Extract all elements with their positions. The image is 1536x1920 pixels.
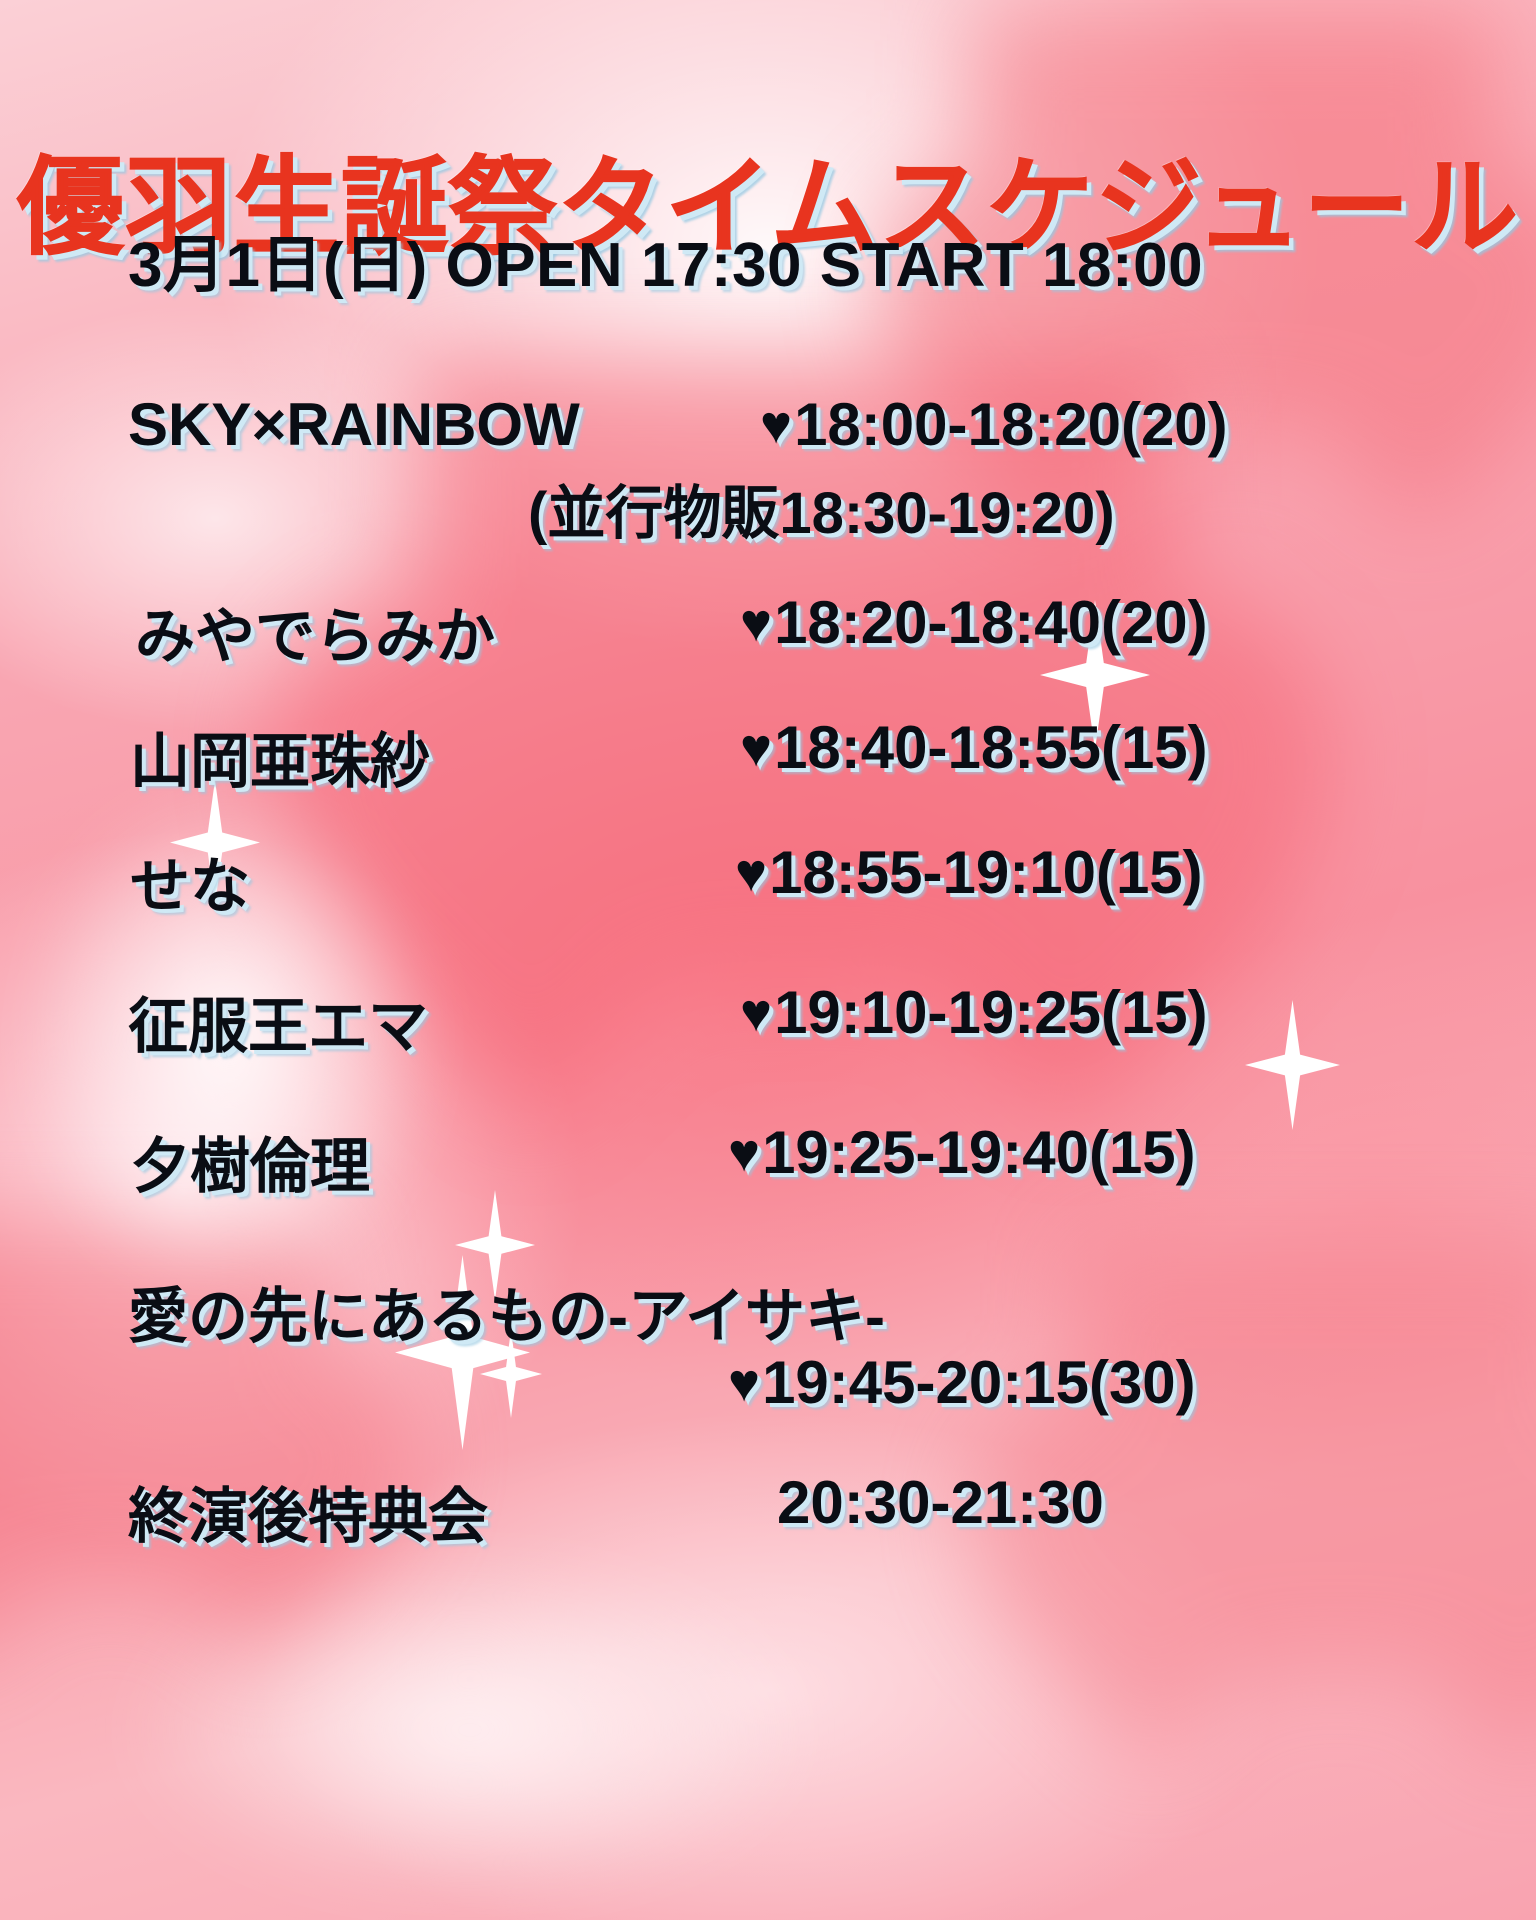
schedule-row: 征服王エマ ♥ 19:10-19:25(15) xyxy=(0,978,1536,1118)
performance-time: ♥ 18:55-19:10(15) xyxy=(735,838,1203,907)
heart-icon: ♥ xyxy=(728,1356,760,1410)
time-text: 19:10-19:25(15) xyxy=(774,978,1208,1047)
time-text: 18:40-18:55(15) xyxy=(774,713,1208,782)
performer-name: 山岡亜珠紗 xyxy=(130,713,430,800)
heart-icon: ♥ xyxy=(740,986,772,1040)
performance-time: ♥ 19:45-20:15(30) xyxy=(728,1348,1196,1417)
heart-icon: ♥ xyxy=(760,398,792,452)
event-time: 20:30-21:30 xyxy=(775,1468,1104,1537)
time-text: 18:20-18:40(20) xyxy=(774,588,1208,657)
schedule-list: SKY×RAINBOW ♥ 18:00-18:20(20) (並行物販18:30… xyxy=(0,390,1536,1598)
performance-time: ♥ 19:25-19:40(15) xyxy=(728,1118,1196,1187)
heart-icon: ♥ xyxy=(735,846,767,900)
performer-name: 征服王エマ xyxy=(128,978,428,1065)
poster-canvas: 優羽生誕祭タイムスケジュール 3月1日(日) OPEN 17:30 START … xyxy=(0,0,1536,1920)
performance-time: ♥ 18:00-18:20(20) xyxy=(760,390,1228,459)
time-text: 19:45-20:15(30) xyxy=(762,1348,1196,1417)
performer-name: SKY×RAINBOW xyxy=(128,390,580,459)
schedule-row: 終演後特典会 20:30-21:30 xyxy=(0,1468,1536,1598)
heart-icon: ♥ xyxy=(728,1126,760,1180)
time-text: 18:00-18:20(20) xyxy=(794,390,1228,459)
time-text: 20:30-21:30 xyxy=(777,1468,1104,1537)
event-date-time: 3月1日(日) OPEN 17:30 START 18:00 xyxy=(128,214,1203,304)
performer-name: せな xyxy=(130,838,250,925)
performer-name: みやでらみか xyxy=(135,588,495,675)
schedule-row: せな ♥ 18:55-19:10(15) xyxy=(0,838,1536,978)
schedule-row: 愛の先にあるもの-アイサキ- ♥ 19:45-20:15(30) xyxy=(0,1268,1536,1468)
schedule-row: 山岡亜珠紗 ♥ 18:40-18:55(15) xyxy=(0,713,1536,838)
schedule-row: 夕樹倫理 ♥ 19:25-19:40(15) xyxy=(0,1118,1536,1268)
schedule-row: SKY×RAINBOW ♥ 18:00-18:20(20) (並行物販18:30… xyxy=(0,390,1536,588)
time-text: 19:25-19:40(15) xyxy=(762,1118,1196,1187)
heart-icon: ♥ xyxy=(740,596,772,650)
performer-name: 愛の先にあるもの-アイサキ- xyxy=(128,1268,885,1355)
schedule-row: みやでらみか ♥ 18:20-18:40(20) xyxy=(0,588,1536,713)
performance-time: ♥ 19:10-19:25(15) xyxy=(740,978,1208,1047)
event-name: 終演後特典会 xyxy=(128,1468,488,1555)
time-text: 18:55-19:10(15) xyxy=(769,838,1203,907)
performance-time: ♥ 18:40-18:55(15) xyxy=(740,713,1208,782)
performance-time: ♥ 18:20-18:40(20) xyxy=(740,588,1208,657)
merch-note: (並行物販18:30-19:20) xyxy=(528,466,1115,550)
performer-name: 夕樹倫理 xyxy=(130,1118,370,1205)
heart-icon: ♥ xyxy=(740,721,772,775)
